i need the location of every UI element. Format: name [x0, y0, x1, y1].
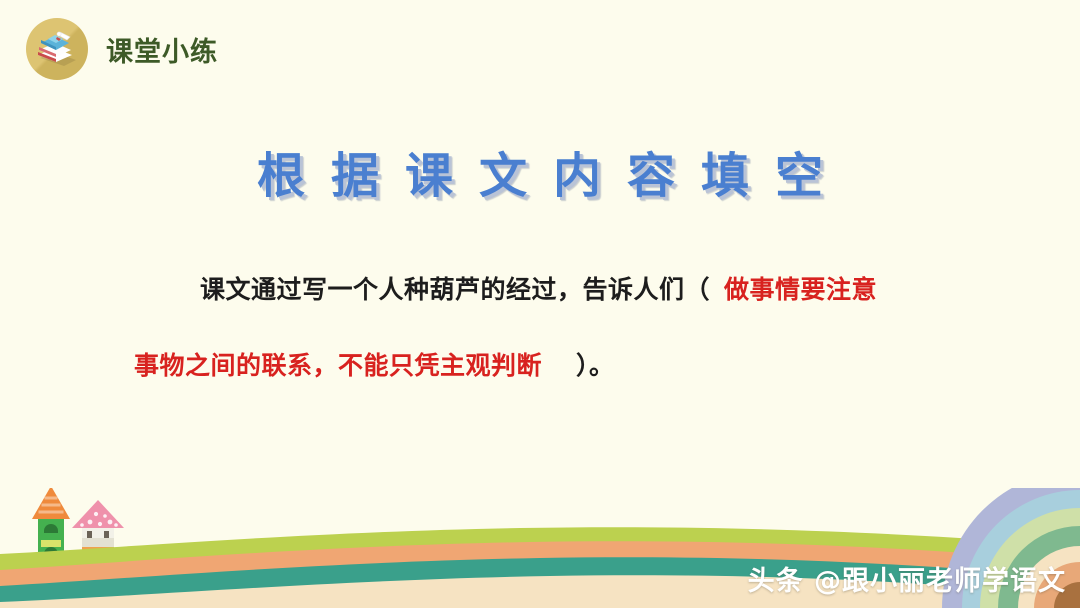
exercise-body: 课文通过写一个人种葫芦的经过，告诉人们（做事情要注意 事物之间的联系，不能只凭主… [128, 252, 956, 404]
answer-part-1: 做事情要注意 [724, 275, 877, 304]
header-title: 课堂小练 [106, 30, 218, 69]
slide-header: 课堂小练 [26, 18, 218, 80]
question-prompt: 课文通过写一个人种葫芦的经过，告诉人们（ [200, 275, 710, 304]
exercise-line-1: 课文通过写一个人种葫芦的经过，告诉人们（做事情要注意 [128, 252, 956, 328]
page-title: 根据课文内容填空 [0, 136, 1080, 206]
watermark: 头条 @跟小丽老师学语文 [748, 559, 1066, 598]
exercise-line-2: 事物之间的联系，不能只凭主观判断）。 [128, 328, 956, 404]
books-badge-icon [26, 18, 88, 80]
answer-part-2: 事物之间的联系，不能只凭主观判断 [134, 351, 542, 380]
slide-canvas: 课堂小练 根据课文内容填空 课文通过写一个人种葫芦的经过，告诉人们（做事情要注意… [0, 0, 1080, 608]
closing-punctuation: ）。 [576, 351, 615, 380]
